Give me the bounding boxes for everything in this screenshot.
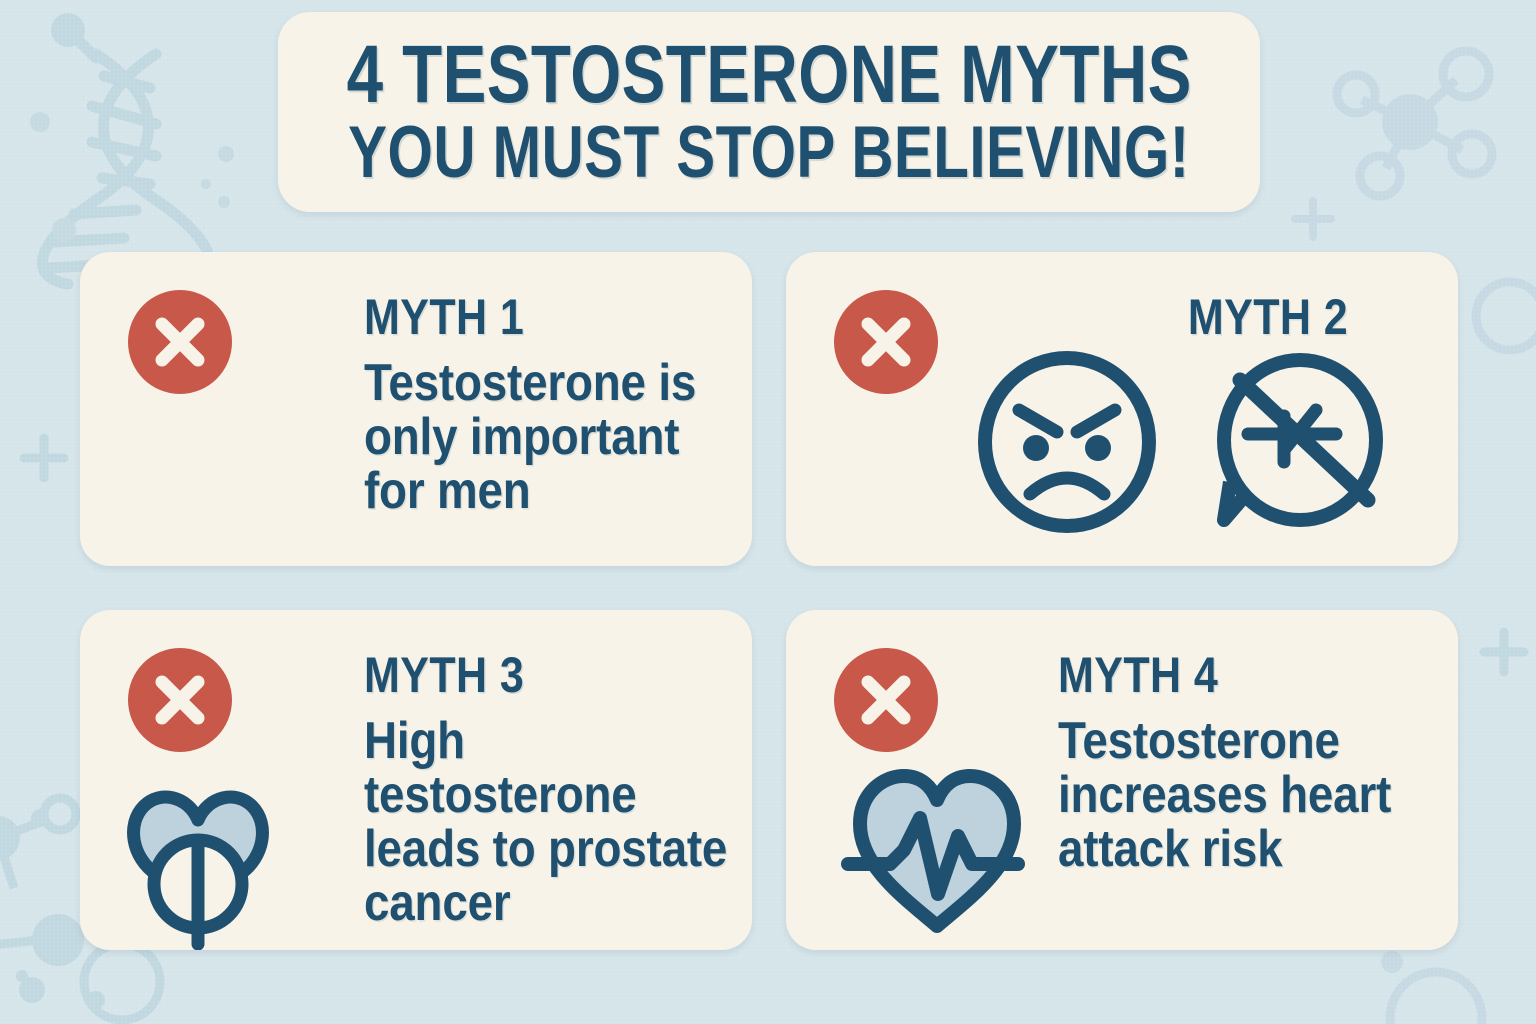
page-title-line-2: YOU MUST STOP BELIEVING! — [348, 119, 1189, 188]
plus-sign-watermark — [18, 432, 70, 484]
heart-ecg-icon — [842, 762, 1032, 937]
myth-card-4-body: Testosterone increases heart attack risk — [1058, 714, 1428, 876]
angry-face-icon — [972, 352, 1162, 532]
infographic-poster: 4 TESTOSTERONE MYTHS YOU MUST STOP BELIE… — [0, 0, 1536, 1024]
dot-cluster-watermark — [0, 960, 120, 1024]
page-title-line-1: 4 TESTOSTERONE MYTHS — [346, 36, 1191, 113]
myth-card-3-label: MYTH 3 — [364, 650, 725, 700]
prostate-bladder-icon — [108, 772, 288, 950]
dot-cluster-watermark — [26, 112, 246, 242]
plus-sign-watermark — [1290, 196, 1336, 242]
molecule-watermark — [1338, 44, 1518, 204]
dna-helix-watermark — [28, 14, 218, 284]
myth-card-1-label: MYTH 1 — [364, 292, 725, 342]
myth-card-4-text: MYTH 4 Testosterone increases heart atta… — [1058, 650, 1458, 876]
myth-card-3-body: High testosterone leads to prostate canc… — [364, 714, 734, 930]
no-speech-bubble-icon — [1208, 352, 1398, 532]
x-mark-icon — [834, 648, 938, 752]
myth-card-1[interactable]: MYTH 1 Testosterone is only important fo… — [80, 252, 752, 566]
myth-card-3-text: MYTH 3 High testosterone leads to prosta… — [364, 650, 752, 930]
poster-title-card: 4 TESTOSTERONE MYTHS YOU MUST STOP BELIE… — [278, 12, 1260, 212]
plus-sign-watermark — [1478, 626, 1530, 678]
x-mark-icon — [834, 290, 938, 394]
myth-card-4[interactable]: MYTH 4 Testosterone increases heart atta… — [786, 610, 1458, 950]
x-mark-icon — [128, 648, 232, 752]
male-gender-symbol-icon — [192, 412, 352, 560]
myth-card-2-label: MYTH 2 — [1087, 292, 1448, 342]
myth-card-2[interactable]: MYTH 2 — [786, 252, 1458, 566]
myth-card-2-text: MYTH 2 — [1058, 292, 1458, 342]
circle-outline-watermark — [1368, 948, 1508, 1024]
myth-card-4-label: MYTH 4 — [1058, 650, 1419, 700]
myth-card-3[interactable]: MYTH 3 High testosterone leads to prosta… — [80, 610, 752, 950]
circle-outline-watermark — [1470, 270, 1536, 380]
myth-card-1-text: MYTH 1 Testosterone is only important fo… — [364, 292, 752, 518]
x-mark-icon — [128, 290, 232, 394]
myth-card-1-body: Testosterone is only important for men — [364, 356, 734, 518]
